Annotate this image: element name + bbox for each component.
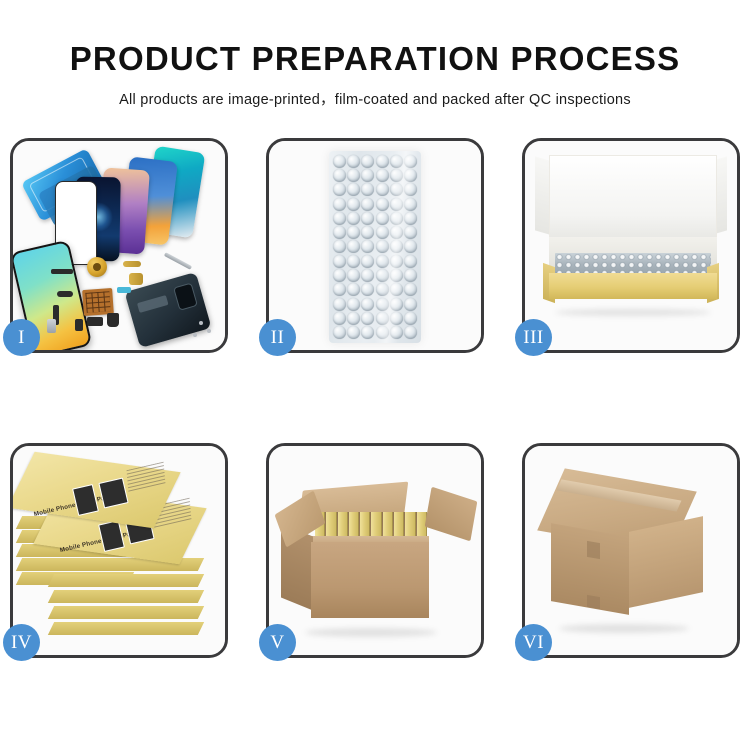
step-panel-6[interactable]: VI bbox=[522, 443, 740, 658]
step-badge-1: I bbox=[3, 319, 40, 356]
carton-shadow bbox=[305, 628, 437, 637]
step-5-illustration bbox=[269, 446, 481, 655]
box-edge bbox=[48, 606, 204, 619]
retail-box-stack: Mobile Phone Spare Parts Mobile Phone Sp… bbox=[13, 446, 225, 655]
header: PRODUCT PREPARATION PROCESS All products… bbox=[0, 0, 750, 109]
step-badge-3: III bbox=[515, 319, 552, 356]
screw-part-icon bbox=[207, 329, 211, 333]
step-panel-5[interactable]: V bbox=[266, 443, 484, 658]
screw-part-icon bbox=[193, 333, 197, 337]
bubble-wrapped-goods-icon bbox=[555, 253, 711, 275]
screw-part-icon bbox=[199, 321, 203, 325]
step-2-illustration bbox=[269, 141, 481, 350]
box-edge bbox=[48, 622, 204, 635]
product-preparation-infographic: PRODUCT PREPARATION PROCESS All products… bbox=[0, 0, 750, 750]
carton-front-face bbox=[311, 542, 429, 618]
gold-coil-part-icon bbox=[87, 257, 107, 277]
sealed-carton-shadow bbox=[559, 624, 689, 633]
box-edge bbox=[48, 574, 204, 587]
step-3-illustration bbox=[525, 141, 737, 350]
camera-flex-part-icon bbox=[117, 287, 131, 293]
speaker-part-icon bbox=[51, 269, 73, 274]
carton-right-flap bbox=[425, 487, 478, 542]
battery-connector-part-icon bbox=[47, 319, 56, 333]
sealed-carton-right-face bbox=[629, 516, 703, 608]
step-panel-1[interactable]: I bbox=[10, 138, 228, 353]
step-panel-2[interactable]: II bbox=[266, 138, 484, 353]
earpiece-part-icon bbox=[107, 313, 119, 327]
step-badge-5: V bbox=[259, 624, 296, 661]
flex-cable-part-icon bbox=[123, 261, 141, 267]
box-edge bbox=[48, 590, 204, 603]
carton-tape-tab bbox=[587, 541, 600, 559]
box-shadow bbox=[555, 309, 711, 316]
box-lid-panel bbox=[549, 155, 717, 241]
step-badge-4: IV bbox=[3, 624, 40, 661]
carton-tape-tab bbox=[587, 595, 600, 609]
step-badge-2: II bbox=[259, 319, 296, 356]
vibrator-part-icon bbox=[75, 319, 83, 331]
button-flex-part-icon bbox=[129, 273, 143, 285]
step-4-illustration: Mobile Phone Spare Parts Mobile Phone Sp… bbox=[13, 446, 225, 655]
page-title: PRODUCT PREPARATION PROCESS bbox=[0, 0, 750, 75]
copper-chip-grid-icon bbox=[82, 288, 114, 316]
step-6-illustration bbox=[525, 446, 737, 655]
steps-grid: I bbox=[0, 138, 750, 698]
step-panel-4[interactable]: Mobile Phone Spare Parts Mobile Phone Sp… bbox=[10, 443, 228, 658]
step-1-illustration bbox=[13, 141, 225, 350]
sim-tray-part-icon bbox=[87, 317, 103, 326]
bubble-wrap-sheet-icon bbox=[329, 151, 421, 343]
connector-part-icon bbox=[57, 291, 73, 297]
box-front-panel bbox=[549, 273, 717, 299]
page-subtitle: All products are image-printed，film-coat… bbox=[0, 75, 750, 109]
step-panel-3[interactable]: III bbox=[522, 138, 740, 353]
step-badge-6: VI bbox=[515, 624, 552, 661]
tweezer-tool-icon bbox=[164, 252, 192, 270]
